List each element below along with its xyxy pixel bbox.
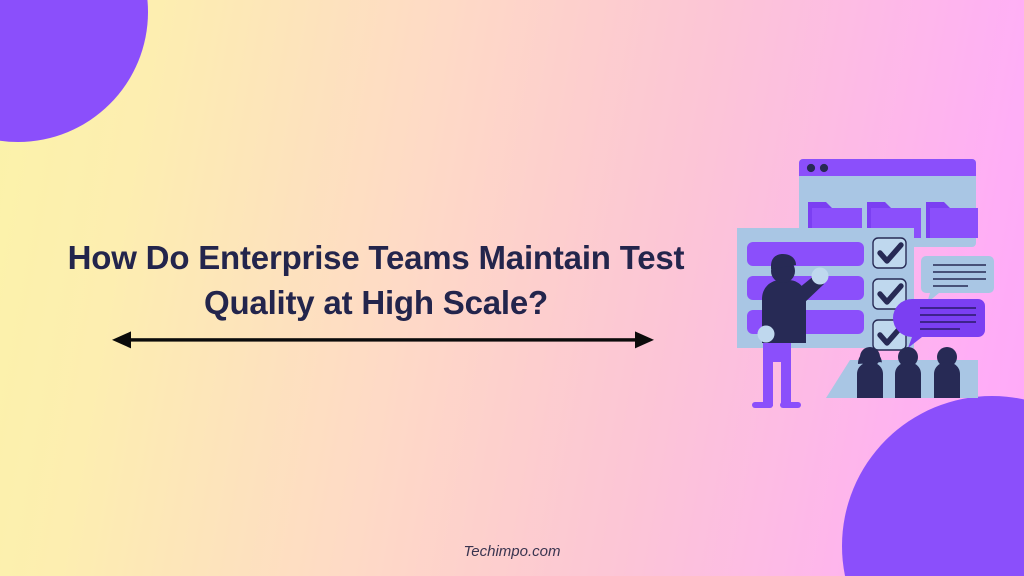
audience-figure-2	[895, 347, 921, 398]
audience-figure-1	[857, 347, 883, 398]
presenter-hand-down	[758, 326, 775, 343]
speech-bubble-blue	[921, 256, 994, 303]
double-headed-arrow	[112, 326, 654, 354]
team-test-quality-illustration	[728, 152, 994, 414]
page-title-line-1: How Do Enterprise Teams Maintain Test	[40, 236, 712, 281]
headline-block: How Do Enterprise Teams Maintain Test Qu…	[40, 236, 712, 326]
audience-figure-3	[934, 347, 960, 398]
page-title-line-2: Quality at High Scale?	[40, 281, 712, 326]
audience-figures	[857, 347, 960, 398]
window-dot-1	[807, 164, 815, 172]
list-bar-1	[747, 242, 864, 266]
purple-quarter-circle-top-left	[0, 0, 148, 142]
footer-site-name: Techimpo.com	[0, 543, 1024, 560]
checkbox-1	[873, 238, 906, 268]
page-title: How Do Enterprise Teams Maintain Test Qu…	[40, 236, 712, 326]
presenter-hand-up	[812, 268, 829, 285]
window-dot-2	[820, 164, 828, 172]
